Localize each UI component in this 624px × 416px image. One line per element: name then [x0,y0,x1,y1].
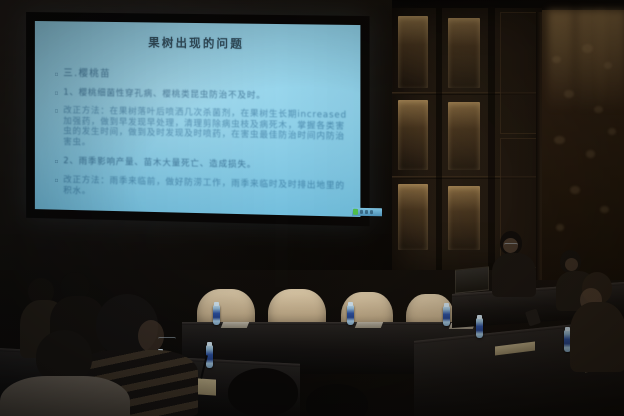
start-button-icon[interactable] [353,209,358,215]
wall-niche-light [398,100,428,170]
projection-screen: 果树出现的问题 ▫ 三.樱桃苗 ▫ 1、樱桃细菌性穿孔病、樱桃类昆虫防治不及时。… [26,12,370,226]
wall-niche-light [398,16,428,88]
slide-bullet: ▫ 三.樱桃苗 [54,69,348,85]
bullet-marker-icon: ▫ [54,175,63,186]
wall-niche-light [448,186,480,250]
water-bottle[interactable] [476,318,483,338]
slide-title: 果树出现的问题 [35,33,361,53]
projected-taskbar[interactable] [352,208,382,217]
bullet-marker-icon: ▫ [54,69,63,80]
niche-wall [392,8,542,270]
bullet-text: 2、雨季影响产量、苗木大量死亡、造成损失。 [63,156,256,171]
slide-bullet: ▫ 1、樱桃细菌性穿孔病、樱桃类昆虫防治不及时。 [54,88,348,104]
water-bottle[interactable] [213,305,220,325]
bullet-marker-icon: ▫ [54,88,63,99]
wall-niche-light [448,102,480,170]
slide-bullet-list: ▫ 三.樱桃苗 ▫ 1、樱桃细菌性穿孔病、樱桃类昆虫防治不及时。 ▫ 改正方法：… [54,65,348,208]
tray-icon[interactable] [365,210,368,214]
slide-bullet: ▫ 2、雨季影响产量、苗木大量死亡、造成损失。 [54,156,348,173]
presentation-slide: 果树出现的问题 ▫ 三.樱桃苗 ▫ 1、樱桃细菌性穿孔病、樱桃类昆虫防治不及时。… [35,21,361,217]
slide-bullet: ▫ 改正方法：雨季来临前，做好防涝工作，雨季来临时及时排出地里的积水。 [54,175,348,203]
bullet-marker-icon: ▫ [54,156,63,167]
bullet-text: 三.樱桃苗 [63,69,111,80]
note-paper[interactable] [221,322,249,328]
tray-icon[interactable] [360,210,363,214]
eyeglasses [158,337,176,343]
conference-room-scene: 果树出现的问题 ▫ 三.樱桃苗 ▫ 1、樱桃细菌性穿孔病、樱桃类昆虫防治不及时。… [0,0,624,416]
water-bottle[interactable] [347,305,354,325]
decorative-wall [542,10,624,280]
laptop[interactable] [455,266,489,294]
slide-bullet: ▫ 改正方法：在果树落叶后喷洒几次杀菌剂，在果树生长期increased加强药，… [54,105,348,153]
bullet-marker-icon: ▫ [54,105,63,116]
note-paper[interactable] [355,322,383,328]
wall-niche-light [398,184,428,250]
tray-icon[interactable] [370,210,373,214]
bullet-text: 1、樱桃细菌性穿孔病、樱桃类昆虫防治不及时。 [63,88,265,102]
wall-niche-light [448,18,480,88]
water-bottle[interactable] [443,306,450,326]
bullet-text: 改正方法：雨季来临前，做好防涝工作，雨季来临时及时排出地里的积水。 [63,175,348,202]
bullet-text: 改正方法：在果树落叶后喷洒几次杀菌剂，在果树生长期increased加强药，做到… [63,106,348,153]
